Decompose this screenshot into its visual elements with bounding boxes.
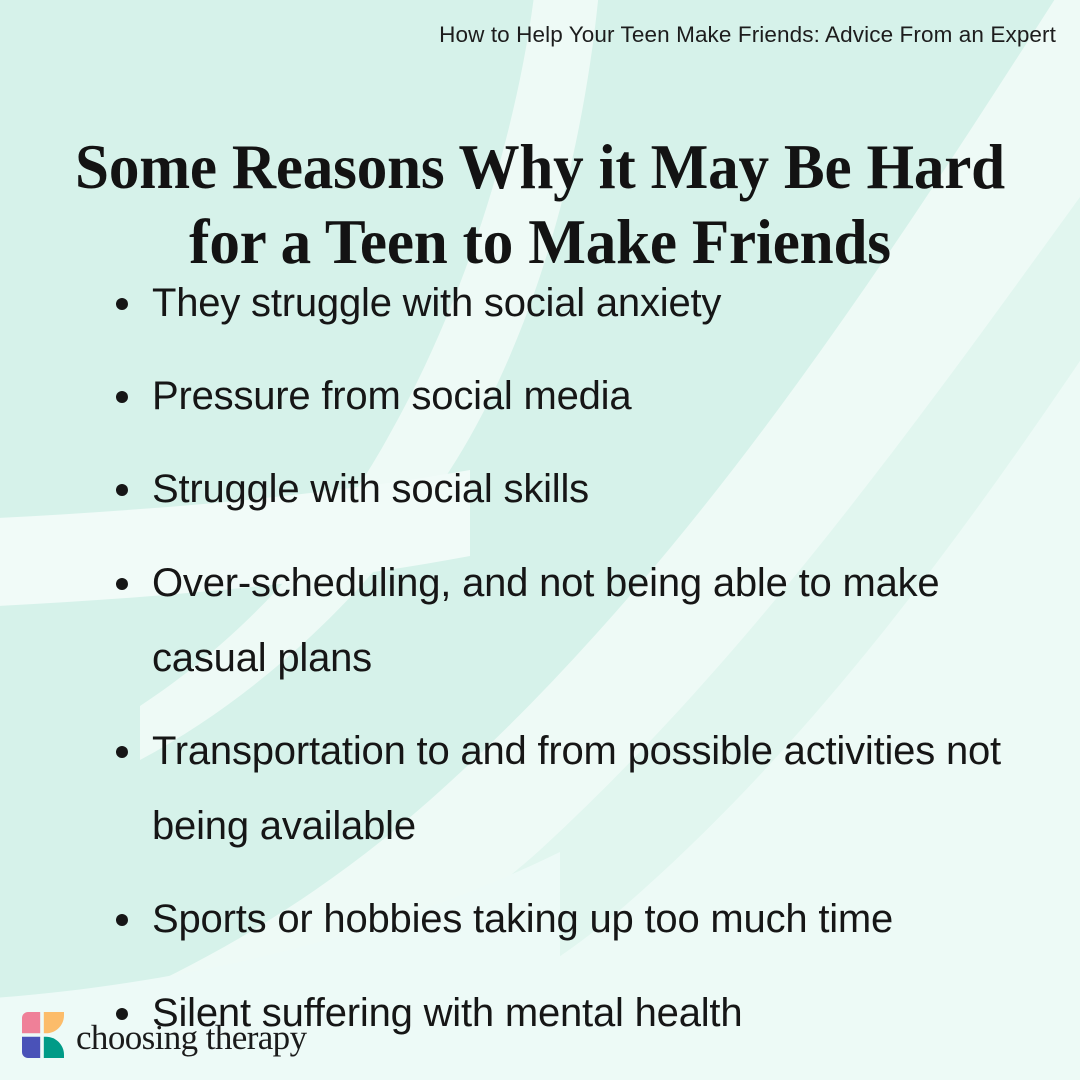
bullet-point-icon [116,578,128,590]
logo-wordmark: choosing therapy [76,1020,306,1055]
header-bar: How to Help Your Teen Make Friends: Advi… [300,22,1056,48]
bullet-point-icon [116,391,128,403]
list-item: Sports or hobbies taking up too much tim… [104,882,1034,957]
bullet-point-icon [116,484,128,496]
bullet-point-icon [116,298,128,310]
choosing-therapy-logo-icon [22,1012,64,1058]
bullet-point-icon [116,746,128,758]
list-item-label: Struggle with social skills [152,452,1034,527]
logo-quadrant-top-left [22,1012,40,1033]
page-title: Some Reasons Why it May Be Hard for a Te… [72,130,1007,279]
list-item: Over-scheduling, and not being able to m… [104,546,1034,696]
logo-quadrant-bottom-right [44,1037,64,1058]
list-item: Transportation to and from possible acti… [104,714,1034,864]
list-item-label: They struggle with social anxiety [152,266,1034,341]
logo-quadrant-bottom-left [22,1037,40,1058]
infographic-canvas: How to Help Your Teen Make Friends: Advi… [0,0,1080,1080]
list-item-label: Transportation to and from possible acti… [152,714,1034,864]
bullet-point-icon [116,914,128,926]
list-item: They struggle with social anxiety [104,266,1034,341]
brand-logo: choosing therapy [22,1012,306,1058]
article-title: How to Help Your Teen Make Friends: Advi… [300,22,1056,48]
list-item-label: Pressure from social media [152,359,1034,434]
reasons-list: They struggle with social anxietyPressur… [104,266,1034,1069]
list-item-label: Sports or hobbies taking up too much tim… [152,882,1034,957]
list-item: Struggle with social skills [104,452,1034,527]
list-item: Pressure from social media [104,359,1034,434]
logo-quadrant-top-right [44,1012,64,1033]
list-item-label: Over-scheduling, and not being able to m… [152,546,1034,696]
